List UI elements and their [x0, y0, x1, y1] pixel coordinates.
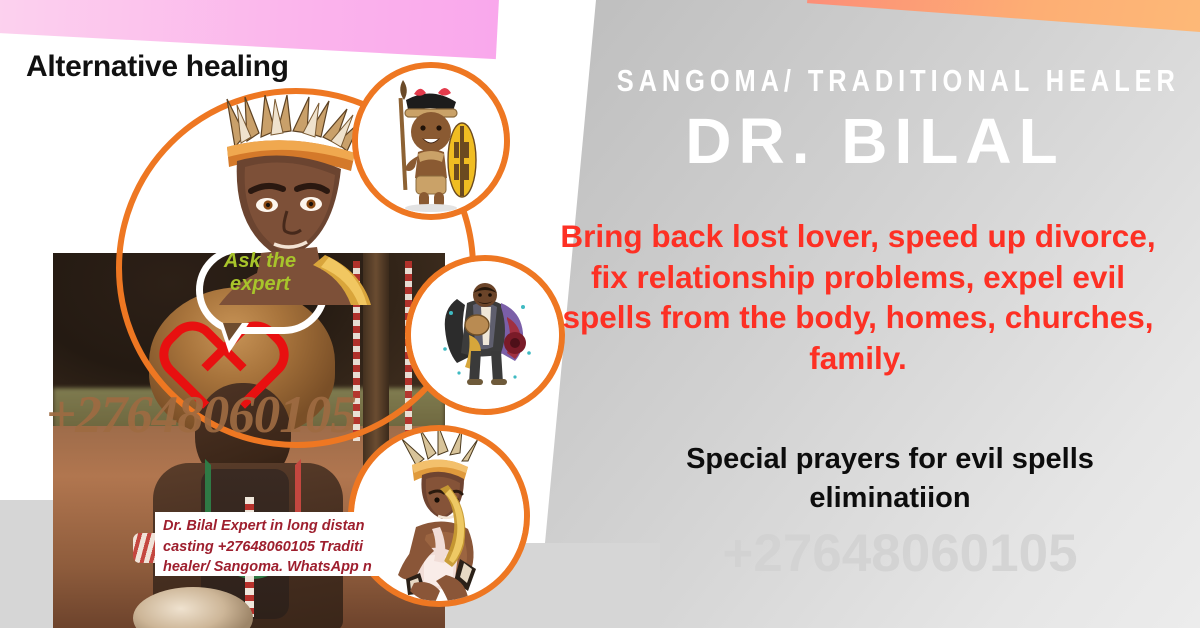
caption-line-1: Dr. Bilal Expert in long distan [163, 516, 381, 537]
poster-canvas: Alternative healing [0, 0, 1200, 628]
photo-caption-box: Dr. Bilal Expert in long distan casting … [155, 512, 387, 576]
alternative-healing-heading: Alternative healing [26, 50, 289, 84]
doctor-name: DR. BILAL [560, 104, 1190, 178]
phone-watermark: +27648060105 [600, 523, 1200, 584]
circle-robed-healer [405, 255, 565, 415]
services-text: Bring back lost lover, speed up divorce,… [548, 216, 1168, 379]
caption-line-2: casting +27648060105 Traditi [163, 537, 381, 558]
speech-bubble-text: Ask the expert [206, 250, 314, 296]
special-prayers-text: Special prayers for evil spells eliminat… [610, 440, 1170, 518]
caption-line-3: healer/ Sangoma. WhatsApp n [163, 557, 381, 576]
circle-zulu-warrior [352, 62, 510, 220]
photo-phone-watermark: +27648060105 [46, 385, 356, 445]
kicker-title: SANGOMA/ TRADITIONAL HEALER [617, 63, 1134, 99]
